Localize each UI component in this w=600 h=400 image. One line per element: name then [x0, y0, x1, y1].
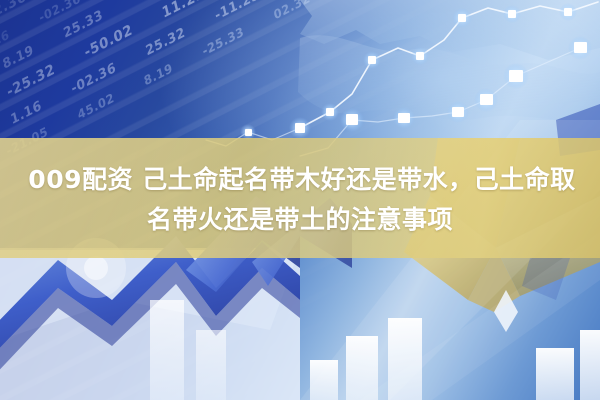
ticker-number: 25.33: [62, 7, 105, 42]
ticker-number: -02.36: [38, 0, 82, 25]
headline: 009配资 己土命起名带木好还是带水，己土命取 名带火还是带土的注意事项: [0, 160, 600, 240]
ticker-number-row: -11.254.26-50.02-02.364.36-25.32: [0, 0, 590, 41]
ticker-number: 45.02: [76, 90, 116, 122]
ticker-number: -02.36: [0, 0, 28, 28]
headline-line-1: 009配资 己土命起名带木好还是带水，己土命取: [0, 160, 600, 200]
ticker-number: 8.19: [143, 60, 175, 88]
ticker-number: 11.25: [161, 0, 207, 22]
chart-node-group: [240, 3, 592, 140]
bar-chart-silhouettes: [150, 300, 600, 400]
ticker-number: -21.05: [5, 124, 49, 159]
ticker-number: -11.25: [213, 0, 261, 24]
ticker-number: -02.36: [70, 60, 118, 97]
ticker-number-row: 8.05-02.36-11.2545.02-50.0210.02: [0, 0, 597, 68]
ticker-number: -25.32: [5, 61, 56, 101]
ticker-number-row: 02.32-25.32-50.0211.2545.028.05: [0, 0, 600, 146]
ticker-number-row: 1.164.26-02.3625.32-11.2545.02: [0, 0, 600, 93]
ticker-number: 02.32: [272, 0, 312, 23]
ticker-number: -02.36: [131, 0, 179, 7]
ticker-number: -50.02: [83, 21, 134, 61]
ticker-number-row: -50.028.1925.33-02.36-21.054.36: [0, 0, 600, 119]
ticker-number: 4.26: [0, 27, 11, 55]
ticker-number: 25.32: [144, 25, 187, 60]
ticker-number-row: 63.161.16-02.3625.32-11.25-50.02: [0, 0, 600, 172]
ticker-number: -25.33: [201, 24, 245, 59]
stock-market-banner-image: -50.02-02.36-11.2525.3245.02-21.05-11.25…: [0, 0, 600, 400]
ticker-number: 1.16: [9, 98, 43, 128]
ticker-number-row: -50.02-02.36-11.2525.3245.02-21.05: [0, 0, 584, 16]
ticker-number: 8.19: [1, 43, 35, 73]
headline-line-2: 名带火还是带土的注意事项: [0, 200, 600, 240]
